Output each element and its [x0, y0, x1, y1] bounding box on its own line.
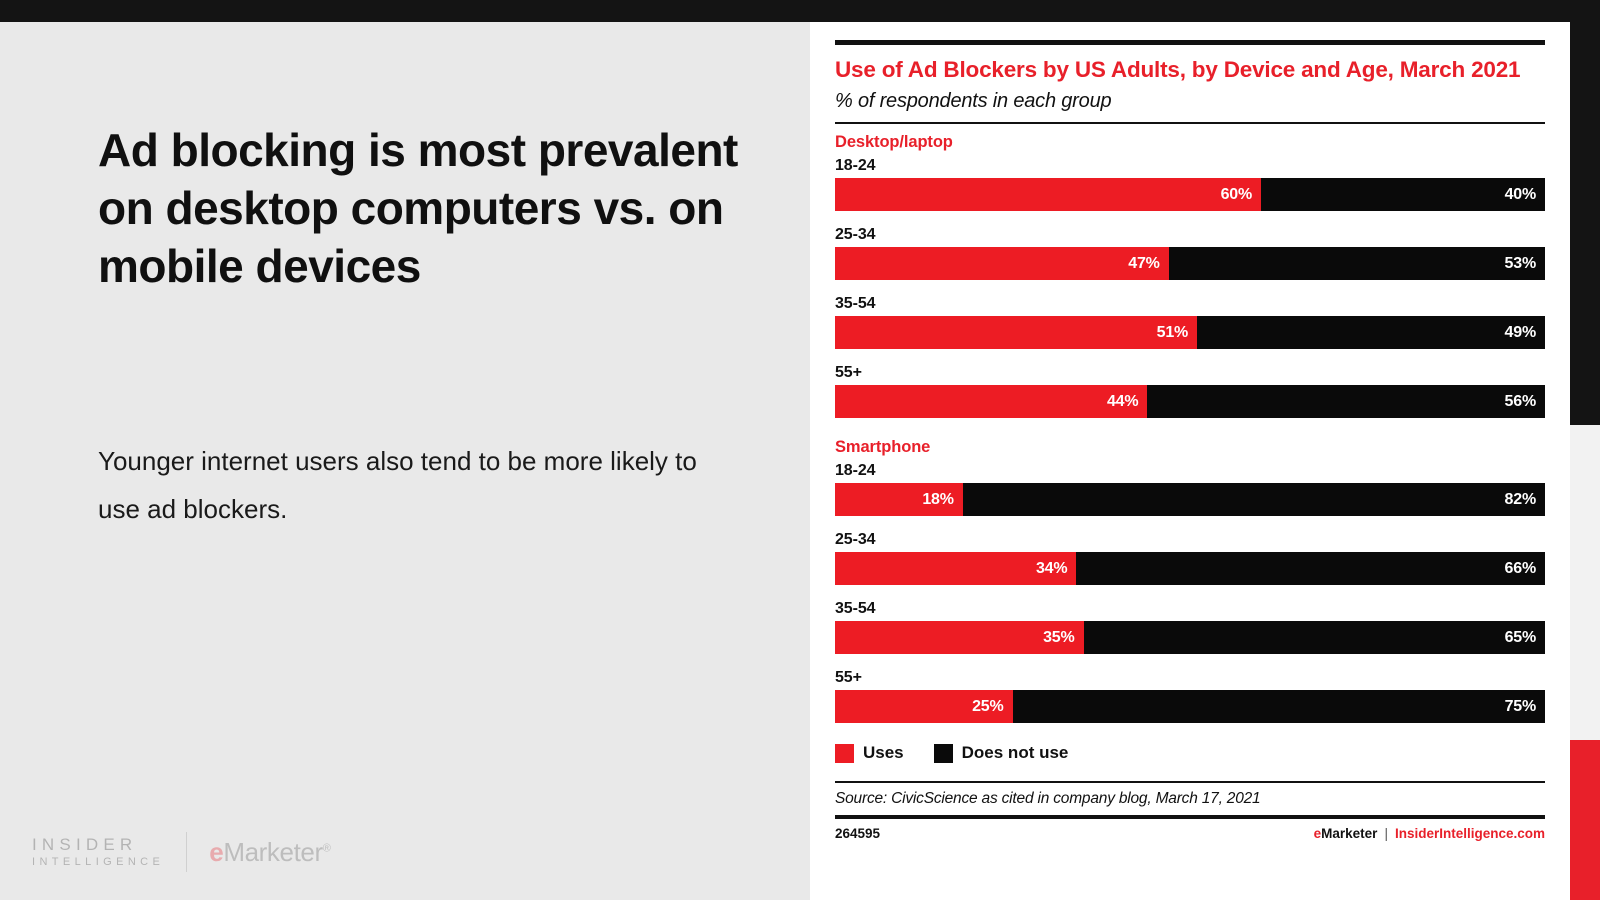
bar-segment-uses: 34%	[835, 552, 1076, 585]
row-spacer	[835, 585, 1545, 595]
bar-row: 25%75%	[835, 690, 1545, 723]
bar-row: 60%40%	[835, 178, 1545, 211]
bar-category-label: 55+	[835, 669, 1545, 687]
row-spacer	[835, 211, 1545, 221]
rule-below-source	[835, 815, 1545, 819]
chart-plot-area: Desktop/laptop18-2460%40%25-3447%53%35-5…	[835, 133, 1545, 723]
rule-top	[835, 40, 1545, 45]
left-intro-panel: Ad blocking is most prevalent on desktop…	[0, 22, 810, 900]
bar-segment-uses: 60%	[835, 178, 1261, 211]
bar-segment-uses: 51%	[835, 316, 1197, 349]
bar-segment-uses: 18%	[835, 483, 963, 516]
bar-category-label: 55+	[835, 364, 1545, 382]
insider-logo-line2: INTELLIGENCE	[32, 856, 164, 869]
bar-segment-does-not-use: 66%	[1076, 552, 1545, 585]
right-strip-red	[1570, 740, 1600, 900]
page-subtitle: Younger internet users also tend to be m…	[98, 437, 698, 533]
legend-label-does-not-use: Does not use	[962, 743, 1069, 763]
chart-title: Use of Ad Blockers by US Adults, by Devi…	[835, 56, 1545, 84]
group-spacer	[835, 418, 1545, 429]
top-black-bar	[0, 0, 1600, 22]
bar-segment-uses: 44%	[835, 385, 1147, 418]
page-title: Ad blocking is most prevalent on desktop…	[98, 122, 758, 296]
chart-card: Use of Ad Blockers by US Adults, by Devi…	[810, 22, 1570, 900]
bar-category-label: 25-34	[835, 226, 1545, 244]
legend-swatch-does-not-use-icon	[934, 744, 953, 763]
legend-item-does-not-use: Does not use	[934, 743, 1069, 763]
bar-segment-does-not-use: 75%	[1013, 690, 1546, 723]
bar-row: 18%82%	[835, 483, 1545, 516]
footer-divider: |	[1384, 826, 1388, 841]
group-label-desktop-laptop: Desktop/laptop	[835, 133, 1545, 152]
chart-legend: Uses Does not use	[835, 743, 1545, 763]
logo-divider	[186, 832, 187, 872]
emarketer-logo-rest: Marketer	[223, 837, 322, 867]
footer-emarketer: eMarketer	[1314, 826, 1378, 841]
bar-row: 44%56%	[835, 385, 1545, 418]
footer-emarketer-rest: Marketer	[1321, 826, 1377, 841]
brand-logos: INSIDER INTELLIGENCE eMarketer®	[32, 832, 330, 872]
chart-id-number: 264595	[835, 826, 880, 841]
emarketer-logo-e: e	[209, 837, 223, 867]
bar-segment-does-not-use: 53%	[1169, 247, 1545, 280]
legend-label-uses: Uses	[863, 743, 904, 763]
bar-row: 35%65%	[835, 621, 1545, 654]
bar-row: 51%49%	[835, 316, 1545, 349]
row-spacer	[835, 654, 1545, 664]
right-strip-gray	[1570, 425, 1600, 740]
rule-under-subtitle	[835, 122, 1545, 124]
chart-subtitle: % of respondents in each group	[835, 90, 1545, 113]
bar-row: 34%66%	[835, 552, 1545, 585]
bar-category-label: 35-54	[835, 295, 1545, 313]
emarketer-logo: eMarketer®	[209, 837, 330, 868]
bar-category-label: 25-34	[835, 531, 1545, 549]
bar-segment-does-not-use: 40%	[1261, 178, 1545, 211]
bar-category-label: 35-54	[835, 600, 1545, 618]
legend-item-uses: Uses	[835, 743, 904, 763]
insider-intelligence-logo: INSIDER INTELLIGENCE	[32, 835, 164, 869]
bar-row: 47%53%	[835, 247, 1545, 280]
row-spacer	[835, 516, 1545, 526]
chart-footer: 264595 eMarketer | InsiderIntelligence.c…	[835, 826, 1545, 841]
bar-segment-does-not-use: 56%	[1147, 385, 1545, 418]
row-spacer	[835, 349, 1545, 359]
right-strip-black	[1570, 0, 1600, 425]
footer-website-link[interactable]: InsiderIntelligence.com	[1395, 826, 1545, 841]
bar-segment-uses: 35%	[835, 621, 1084, 654]
bar-category-label: 18-24	[835, 462, 1545, 480]
bar-segment-does-not-use: 82%	[963, 483, 1545, 516]
footer-branding: eMarketer | InsiderIntelligence.com	[1314, 826, 1545, 841]
insider-logo-line1: INSIDER	[32, 835, 164, 856]
bar-segment-does-not-use: 49%	[1197, 316, 1545, 349]
trademark-icon: ®	[323, 842, 331, 854]
chart-source: Source: CivicScience as cited in company…	[835, 783, 1545, 815]
bar-segment-uses: 25%	[835, 690, 1013, 723]
bar-category-label: 18-24	[835, 157, 1545, 175]
group-label-smartphone: Smartphone	[835, 438, 1545, 457]
bar-segment-does-not-use: 65%	[1084, 621, 1546, 654]
legend-swatch-uses-icon	[835, 744, 854, 763]
bar-segment-uses: 47%	[835, 247, 1169, 280]
row-spacer	[835, 280, 1545, 290]
